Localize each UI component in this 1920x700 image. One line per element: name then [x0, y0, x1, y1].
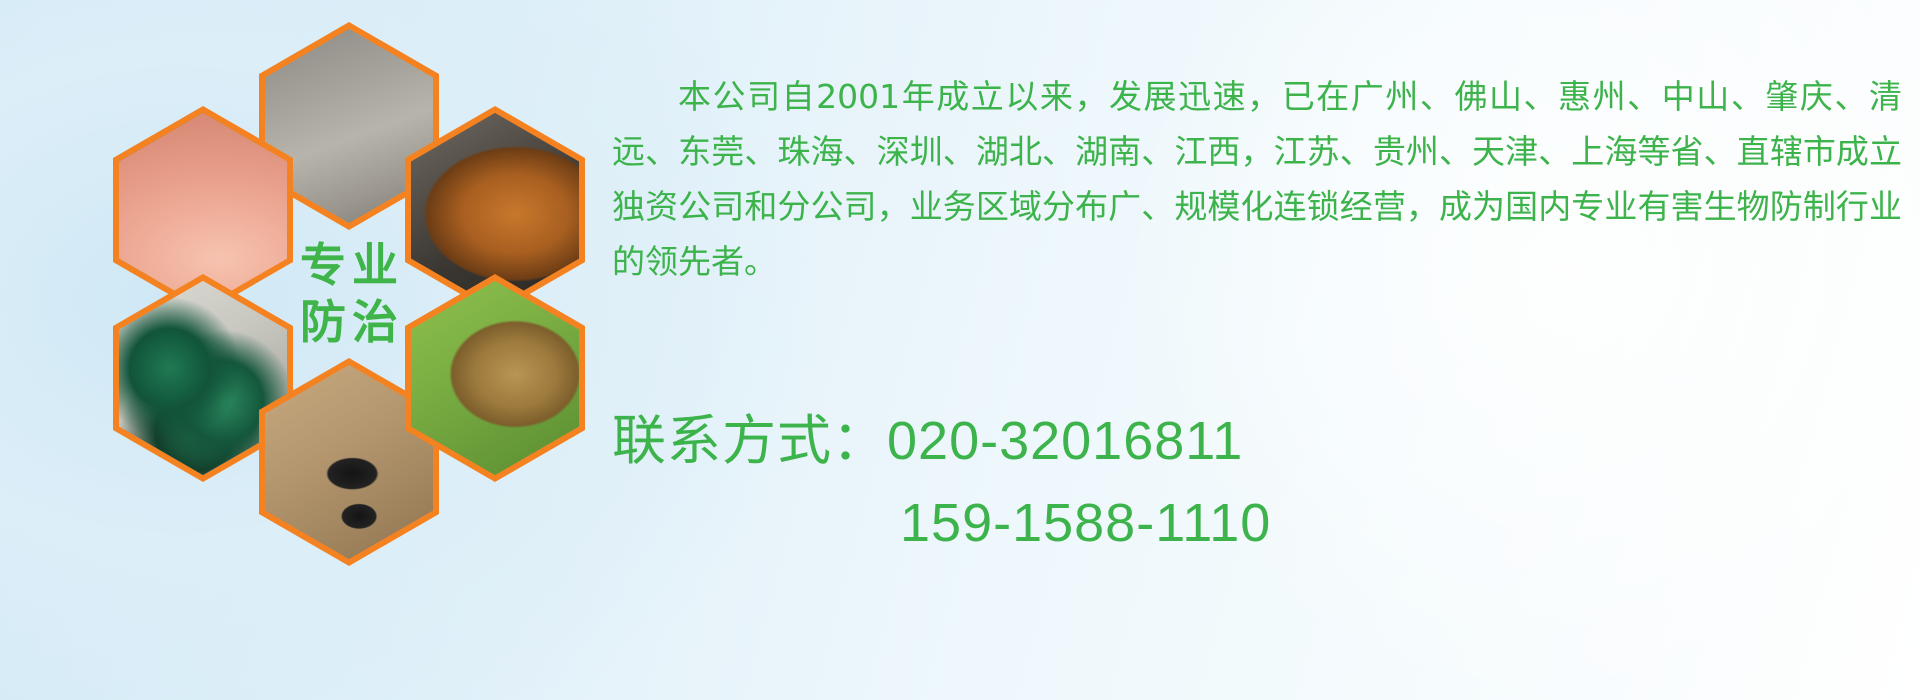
phone-primary[interactable]: 020-32016811	[887, 411, 1243, 471]
contact-label: 联系方式：	[612, 409, 887, 472]
promo-banner: 专业 防治 本公司自2001年成立以来，发展迅速，已在广州、佛山、惠州、中山、肇…	[0, 0, 1920, 700]
company-description-block: 本公司自2001年成立以来，发展迅速，已在广州、佛山、惠州、中山、肇庆、清远、东…	[612, 36, 1902, 322]
slogan-line-2: 防治	[294, 294, 404, 352]
slogan-line-1: 专业	[294, 237, 404, 295]
contact-primary-line: 联系方式：020-32016811	[612, 400, 1271, 482]
honeycomb-photo-cluster: 专业 防治	[95, 8, 595, 568]
phone-secondary[interactable]: 159-1588-1110	[900, 493, 1271, 553]
contact-secondary-line: 159-1588-1110	[612, 482, 1271, 564]
contact-block: 联系方式：020-32016811 159-1588-1110	[612, 400, 1271, 564]
company-description-text: 本公司自2001年成立以来，发展迅速，已在广州、佛山、惠州、中山、肇庆、清远、东…	[612, 69, 1902, 289]
